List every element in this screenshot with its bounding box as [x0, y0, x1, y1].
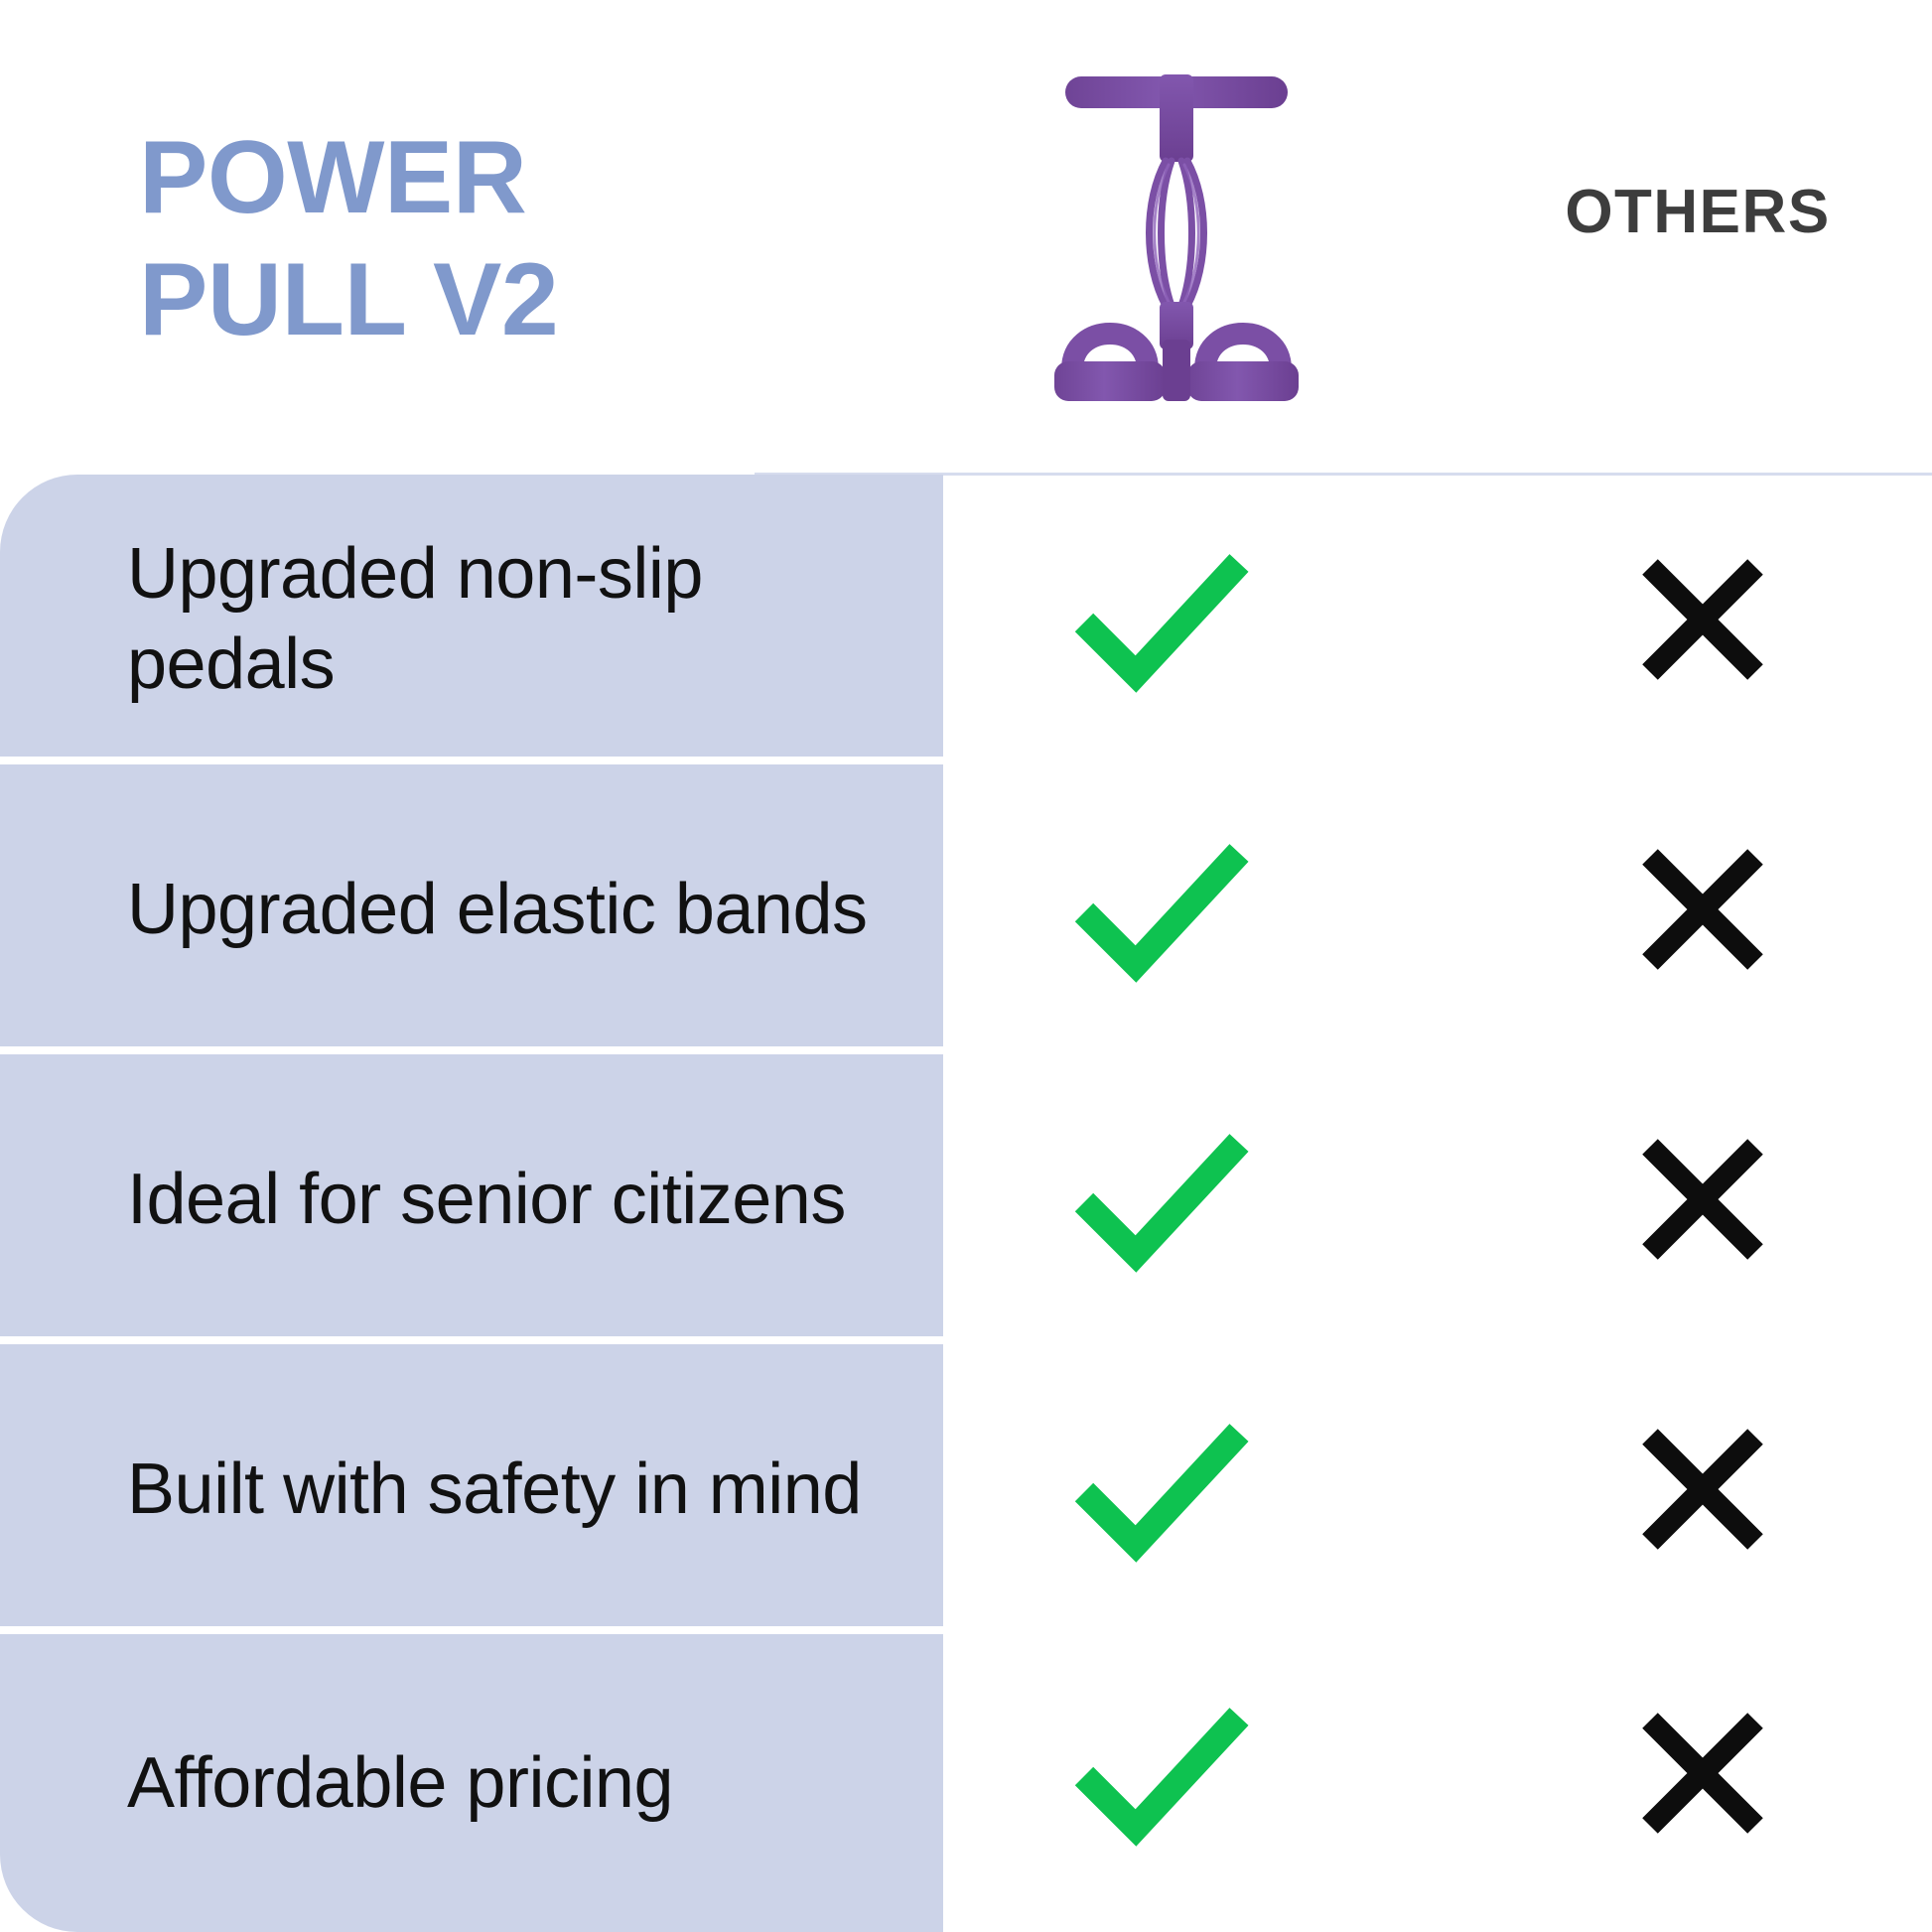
ours-mark-cell [1003, 475, 1320, 764]
others-column-title: OTHERS [1420, 177, 1932, 247]
feature-cell: Upgraded non-slip pedals [0, 475, 943, 764]
check-icon [1070, 1415, 1254, 1564]
others-mark-cell [1544, 475, 1862, 764]
cross-icon [1638, 1425, 1767, 1554]
feature-cell: Upgraded elastic bands [0, 764, 943, 1054]
row-divider [0, 1046, 943, 1054]
table-row: Affordable pricing [0, 1634, 1932, 1932]
feature-cell: Affordable pricing [0, 1634, 943, 1932]
check-icon [1070, 1699, 1254, 1848]
others-mark-cell [1544, 1344, 1862, 1634]
brand-title: POWER PULL V2 [139, 117, 774, 360]
table-row: Upgraded elastic bands [0, 764, 1932, 1054]
feature-label: Upgraded elastic bands [0, 865, 907, 955]
comparison-chart: POWER PULL V2 [0, 0, 1932, 1932]
others-mark-cell [1544, 764, 1862, 1054]
check-icon [1070, 545, 1254, 694]
cross-icon [1638, 1709, 1767, 1838]
cross-icon [1638, 845, 1767, 974]
check-icon [1070, 1125, 1254, 1274]
comparison-header: POWER PULL V2 [0, 0, 1932, 475]
others-mark-cell [1544, 1054, 1862, 1344]
table-row: Upgraded non-slip pedals [0, 475, 1932, 764]
others-mark-cell [1544, 1634, 1862, 1912]
cross-icon [1638, 555, 1767, 684]
cross-icon [1638, 1135, 1767, 1264]
table-row: Ideal for senior citizens [0, 1054, 1932, 1344]
ours-mark-cell [1003, 764, 1320, 1054]
ours-mark-cell [1003, 1054, 1320, 1344]
feature-cell: Built with safety in mind [0, 1344, 943, 1634]
pedal-exerciser-icon [1033, 42, 1320, 439]
feature-label: Affordable pricing [0, 1738, 713, 1829]
row-divider [0, 1336, 943, 1344]
table-row: Built with safety in mind [0, 1344, 1932, 1634]
check-icon [1070, 835, 1254, 984]
brand-title-line-1: POWER [139, 117, 774, 239]
ours-mark-cell [1003, 1344, 1320, 1634]
feature-label: Ideal for senior citizens [0, 1155, 886, 1245]
comparison-table: Upgraded non-slip pedals Upgraded elasti… [0, 475, 1932, 1932]
feature-label: Upgraded non-slip pedals [0, 529, 943, 709]
row-divider [0, 757, 943, 764]
brand-title-line-2: PULL V2 [139, 239, 774, 361]
feature-label: Built with safety in mind [0, 1445, 901, 1535]
row-divider [0, 1626, 943, 1634]
ours-mark-cell [1003, 1634, 1320, 1912]
feature-cell: Ideal for senior citizens [0, 1054, 943, 1344]
